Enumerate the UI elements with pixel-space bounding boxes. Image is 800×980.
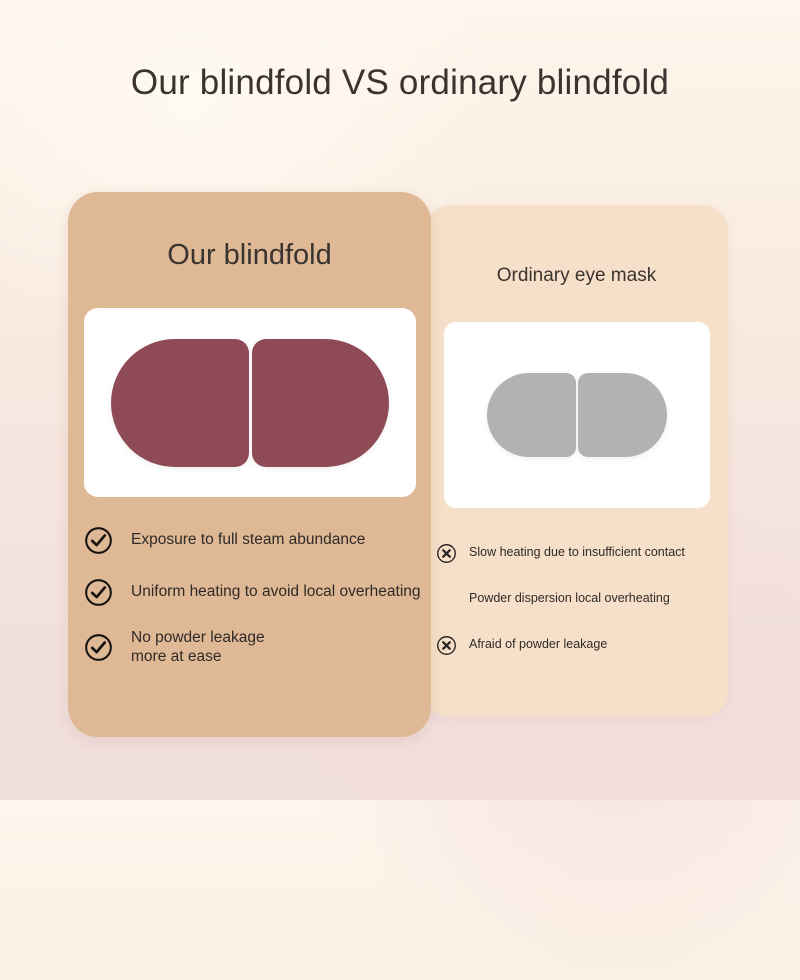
ordinary-comparison-card: Ordinary eye mask Slow heating due to in… — [425, 205, 728, 717]
check-circle-icon — [84, 633, 113, 662]
eye-mask-pad-right — [578, 373, 667, 457]
our-comparison-card: Our blindfold Exposure to full steam abu… — [68, 192, 431, 737]
feature-item: Slow heating due to insufficient contact — [425, 542, 728, 564]
feature-item: Exposure to full steam abundance — [68, 525, 431, 555]
page-title: Our blindfold VS ordinary blindfold — [0, 63, 800, 103]
ordinary-product-photo-panel — [444, 322, 710, 508]
feature-label: No powder leakage more at ease — [131, 629, 265, 667]
feature-item: Afraid of powder leakage — [425, 634, 728, 656]
check-circle-icon — [84, 526, 113, 555]
feature-label: Afraid of powder leakage — [469, 637, 607, 652]
feature-label: Uniform heating to avoid local overheati… — [131, 583, 421, 602]
our-product-photo-panel — [84, 308, 416, 497]
ordinary-feature-list: Slow heating due to insufficient contact… — [425, 542, 728, 680]
feature-item: Uniform heating to avoid local overheati… — [68, 577, 431, 607]
steam-eye-mask-product-image — [111, 339, 389, 467]
feature-label: Exposure to full steam abundance — [131, 531, 365, 550]
eye-mask-pad-left — [111, 339, 249, 467]
our-card-title: Our blindfold — [68, 239, 431, 272]
feature-label: Powder dispersion local overheating — [469, 591, 670, 606]
feature-item: Powder dispersion local overheating — [425, 588, 728, 610]
check-circle-icon — [84, 578, 113, 607]
ordinary-eye-mask-product-image — [487, 373, 667, 457]
eye-mask-pad-right — [252, 339, 390, 467]
x-circle-icon — [436, 543, 457, 564]
ordinary-card-title: Ordinary eye mask — [425, 265, 728, 287]
feature-item: No powder leakage more at ease — [68, 629, 431, 667]
x-circle-icon — [436, 635, 457, 656]
eye-mask-pad-left — [487, 373, 576, 457]
feature-label: Slow heating due to insufficient contact — [469, 545, 685, 560]
our-feature-list: Exposure to full steam abundance Uniform… — [68, 525, 431, 689]
